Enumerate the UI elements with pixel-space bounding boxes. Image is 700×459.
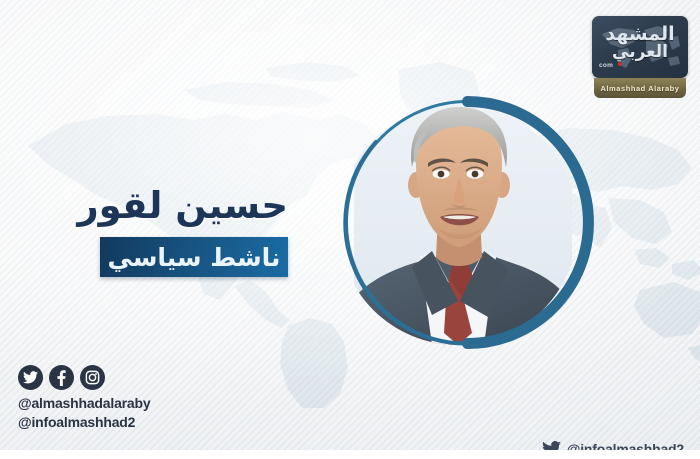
promo-card: حسين لقور ناشط سياسي المشهد العربي com	[0, 0, 700, 459]
role-badge-label: ناشط سياسي	[108, 245, 281, 270]
person-name: حسين لقور	[77, 184, 288, 227]
portrait	[340, 95, 595, 350]
brand-logo-arabic: المشهد العربي	[592, 25, 688, 62]
social-block: @almashhadalaraby @infoalmashhad2	[18, 365, 278, 431]
brand-logo[interactable]: المشهد العربي com Almashhad Alaraby	[592, 16, 688, 100]
bottom-white-strip	[0, 450, 700, 459]
facebook-icon[interactable]	[49, 365, 74, 390]
brand-logo-dot	[618, 62, 622, 66]
social-icon-row	[18, 365, 278, 390]
twitter-icon[interactable]	[18, 365, 43, 390]
brand-logo-com: com	[599, 62, 613, 69]
social-handle-primary: @almashhadalaraby	[18, 394, 278, 412]
instagram-icon[interactable]	[80, 365, 105, 390]
portrait-ring	[340, 95, 595, 350]
role-badge: ناشط سياسي	[100, 237, 288, 277]
brand-logo-line2: العربي	[592, 44, 688, 61]
brand-logo-subtitle: Almashhad Alaraby	[594, 78, 686, 98]
brand-logo-badge: المشهد العربي com	[592, 16, 688, 78]
social-handle-secondary: @infoalmashhad2	[18, 413, 278, 431]
